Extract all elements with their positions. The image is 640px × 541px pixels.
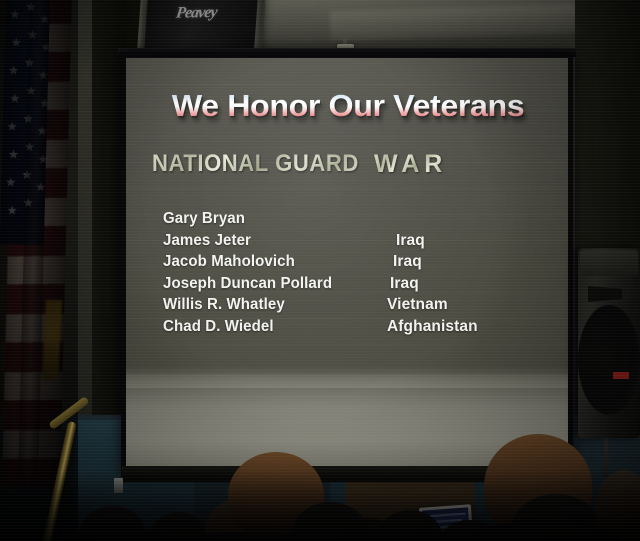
veterans-roster: Gary BryanJames JeterIraqJacob Maholovic…: [126, 210, 568, 339]
jbl-speaker-woofer: [578, 305, 640, 415]
peavey-logo: Peavey: [175, 3, 248, 26]
veteran-war: Iraq: [393, 253, 422, 271]
veteran-name: Jacob Maholovich: [163, 253, 295, 271]
slide-column-headers: NATIONAL GUARD WAR: [126, 150, 568, 184]
jbl-speaker-top: [580, 250, 638, 276]
veteran-name: Chad D. Wiedel: [163, 318, 274, 336]
veterans-slide: We Honor Our Veterans We Honor Our Veter…: [126, 58, 568, 378]
jbl-logo-badge: [613, 372, 629, 379]
roster-row: Jacob MaholovichIraq: [126, 253, 568, 275]
veteran-name: James Jeter: [163, 232, 251, 250]
auditorium-scene: Peavey We Honor Our Veterans We Honor Ou…: [0, 0, 640, 541]
veteran-war: Iraq: [390, 275, 419, 293]
column-header-war: WAR: [374, 150, 447, 179]
veteran-name: Willis R. Whatley: [163, 296, 285, 314]
roster-row: Willis R. WhatleyVietnam: [126, 296, 568, 318]
roster-row: Chad D. WiedelAfghanistan: [126, 318, 568, 340]
veteran-name: Gary Bryan: [163, 210, 245, 228]
audience-shoulders: [470, 522, 620, 541]
veteran-name: Joseph Duncan Pollard: [163, 275, 332, 293]
column-header-branch: NATIONAL GUARD: [152, 150, 359, 178]
roster-row: Gary Bryan: [126, 210, 568, 232]
roster-row: Joseph Duncan PollardIraq: [126, 275, 568, 297]
veteran-war: Afghanistan: [387, 318, 478, 336]
veteran-war: Vietnam: [387, 296, 448, 314]
roster-row: James JeterIraq: [126, 232, 568, 254]
slide-title: We Honor Our Veterans: [140, 88, 556, 124]
wall-fixture: [114, 478, 123, 493]
veteran-war: Iraq: [396, 232, 425, 250]
